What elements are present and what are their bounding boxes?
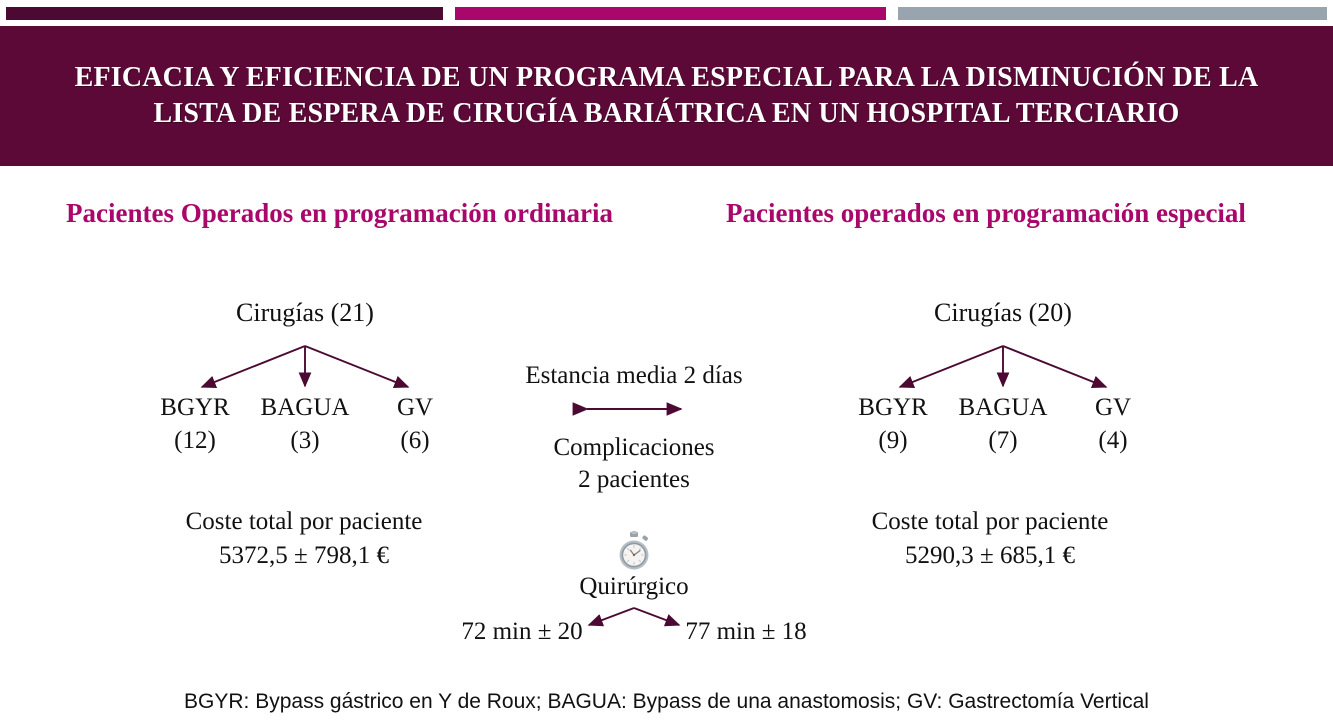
leaf-name: BGYR xyxy=(838,392,948,425)
heading-special-program: Pacientes operados en programación espec… xyxy=(726,196,1286,232)
top-bar-grey xyxy=(898,7,1327,20)
surgical-time-values: 72 min ± 20 77 min ± 18 xyxy=(427,618,841,646)
tree-root-label-special: Cirugías (20) xyxy=(838,298,1168,328)
tree-root-label-ordinary: Cirugías (21) xyxy=(140,298,470,328)
page-title: EFICACIA Y EFICIENCIA DE UN PROGRAMA ESP… xyxy=(42,60,1292,132)
cost-value: 5290,3 ± 685,1 € xyxy=(790,539,1190,573)
top-bar-dark-maroon xyxy=(6,7,443,20)
surgical-time-ordinary: 72 min ± 20 xyxy=(427,618,617,646)
tree-leaves-ordinary: BGYR (12) BAGUA (3) GV (6) xyxy=(140,392,470,457)
leaf-value: (6) xyxy=(360,425,470,458)
center-shared-metrics: Estancia media 2 días Complicaciones 2 p… xyxy=(467,360,801,638)
tree-arrows-special xyxy=(838,342,1168,398)
leaf-name: BAGUA xyxy=(250,392,360,425)
surgical-time-label: Quirúrgico xyxy=(467,573,801,601)
complications-label: Complicaciones xyxy=(467,432,801,465)
tree-ordinary: Cirugías (21) BGYR (12) BAGUA (3) GV (6) xyxy=(140,298,470,468)
leaf-bgyr-ordinary: BGYR (12) xyxy=(140,392,250,457)
double-headed-arrow-icon xyxy=(467,399,801,419)
top-decorative-bars xyxy=(0,7,1333,20)
double-arrow-wrapper xyxy=(467,399,801,424)
heading-ordinary-program: Pacientes Operados en programación ordin… xyxy=(66,196,626,232)
stopwatch-icon xyxy=(614,531,654,573)
cost-label: Coste total por paciente xyxy=(104,505,504,539)
leaf-value: (7) xyxy=(948,425,1058,458)
surgical-time-special: 77 min ± 18 xyxy=(651,618,841,646)
leaf-value: (4) xyxy=(1058,425,1168,458)
tree-special: Cirugías (20) BGYR (9) BAGUA (7) GV (4) xyxy=(838,298,1168,468)
leaf-gv-special: GV (4) xyxy=(1058,392,1168,457)
tree-arrows-ordinary xyxy=(140,342,470,398)
cost-label: Coste total por paciente xyxy=(790,505,1190,539)
leaf-gv-ordinary: GV (6) xyxy=(360,392,470,457)
cost-block-ordinary: Coste total por paciente 5372,5 ± 798,1 … xyxy=(104,505,504,573)
leaf-name: BAGUA xyxy=(948,392,1058,425)
leaf-name: GV xyxy=(360,392,470,425)
average-stay-label: Estancia media 2 días xyxy=(467,360,801,393)
leaf-name: GV xyxy=(1058,392,1168,425)
leaf-bagua-ordinary: BAGUA (3) xyxy=(250,392,360,457)
stopwatch-wrapper xyxy=(467,531,801,571)
complications-value: 2 pacientes xyxy=(467,464,801,497)
abbreviation-legend: BGYR: Bypass gástrico en Y de Roux; BAGU… xyxy=(0,690,1333,714)
leaf-name: BGYR xyxy=(140,392,250,425)
cost-value: 5372,5 ± 798,1 € xyxy=(104,539,504,573)
top-bar-magenta xyxy=(455,7,886,20)
tree-leaves-special: BGYR (9) BAGUA (7) GV (4) xyxy=(838,392,1168,457)
title-band: EFICACIA Y EFICIENCIA DE UN PROGRAMA ESP… xyxy=(0,26,1333,166)
leaf-value: (12) xyxy=(140,425,250,458)
leaf-bgyr-special: BGYR (9) xyxy=(838,392,948,457)
cost-block-special: Coste total por paciente 5290,3 ± 685,1 … xyxy=(790,505,1190,573)
leaf-value: (9) xyxy=(838,425,948,458)
leaf-bagua-special: BAGUA (7) xyxy=(948,392,1058,457)
leaf-value: (3) xyxy=(250,425,360,458)
